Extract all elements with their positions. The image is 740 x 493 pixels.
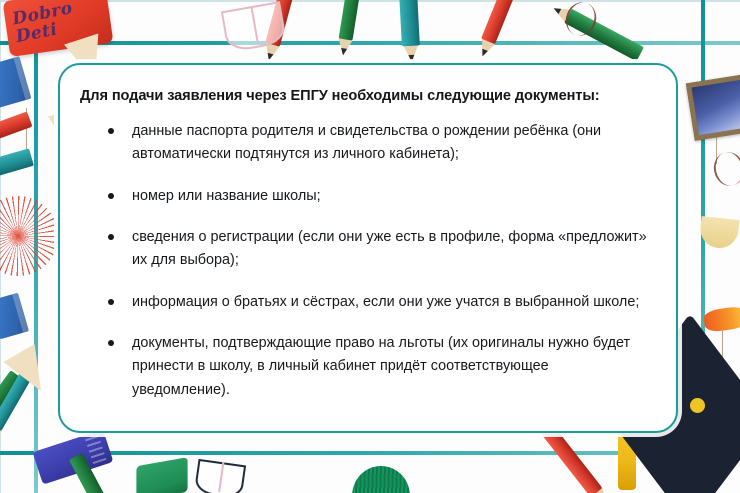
open-book-icon <box>221 1 287 53</box>
poster-root: Dobro Deti <box>0 0 740 493</box>
balloon-string <box>722 330 723 372</box>
list-item: номер или название школы; <box>80 185 650 208</box>
pencil-green-icon <box>564 9 644 62</box>
party-cone-icon <box>3 344 56 400</box>
blue-book-icon <box>0 293 29 340</box>
list-item-text: информация о братьях и сёстрах, если они… <box>132 294 639 310</box>
balloon-string <box>26 108 27 152</box>
list-item: документы, подтверждающие право на льгот… <box>80 332 650 402</box>
pencil-red-icon <box>481 0 522 44</box>
pencil-red-icon <box>265 0 298 47</box>
rocket-icon <box>703 305 740 333</box>
sign-scribble-text: Dobro Deti <box>11 0 105 50</box>
squiggle-icon <box>710 149 740 189</box>
blue-book-icon <box>0 56 31 108</box>
graduation-cap-button-icon <box>690 398 705 413</box>
open-book-icon <box>194 459 246 493</box>
pencil-green-icon <box>339 0 364 41</box>
firework-spiral-icon <box>0 196 58 276</box>
framed-picture-icon <box>686 73 740 141</box>
page-title: Для подачи заявления через ЕПГУ необходи… <box>80 87 650 106</box>
bullet-icon <box>108 128 114 134</box>
pencil-teal-icon <box>0 373 31 431</box>
kite-icon <box>699 216 740 250</box>
balloon-string <box>716 118 717 164</box>
frame-line-top <box>0 41 740 45</box>
frame-line-bottom <box>0 451 740 455</box>
list-item: данные паспорта родителя и свидетельства… <box>80 120 650 167</box>
list-item-text: данные паспорта родителя и свидетельства… <box>132 123 601 162</box>
frame-line-left <box>34 0 38 493</box>
pencil-green-icon <box>0 370 22 432</box>
bullet-icon <box>108 340 114 346</box>
bullet-icon <box>108 193 114 199</box>
grass-brush-icon <box>352 466 410 493</box>
pencil-red-icon <box>0 111 32 152</box>
bullet-icon <box>108 299 114 305</box>
pencil-green-icon <box>69 453 118 493</box>
content-card: Для подачи заявления через ЕПГУ необходи… <box>58 63 678 433</box>
bullet-icon <box>108 234 114 240</box>
content-card-inner: Для подачи заявления через ЕПГУ необходи… <box>60 65 676 431</box>
red-sign-icon: Dobro Deti <box>3 0 114 57</box>
pencil-teal-icon <box>0 148 34 187</box>
list-item-text: номер или название школы; <box>132 188 321 204</box>
frame-line-bottom-inner <box>0 1 740 2</box>
eraser-blue-icon <box>33 429 114 484</box>
list-item-text: сведения о регистрации (если они уже ест… <box>132 229 647 268</box>
squiggle-icon <box>561 0 601 40</box>
list-item: сведения о регистрации (если они уже ест… <box>80 226 650 273</box>
list-item: информация о братьях и сёстрах, если они… <box>80 291 650 314</box>
required-documents-list: данные паспорта родителя и свидетельства… <box>80 120 650 402</box>
eraser-green-icon <box>136 457 187 493</box>
frame-line-right <box>701 0 705 493</box>
frame-line-top-inner <box>0 0 740 1</box>
frame-line-left-inner <box>0 2 1 493</box>
list-item-text: документы, подтверждающие право на льгот… <box>132 335 630 398</box>
pencil-teal-icon <box>398 0 420 46</box>
